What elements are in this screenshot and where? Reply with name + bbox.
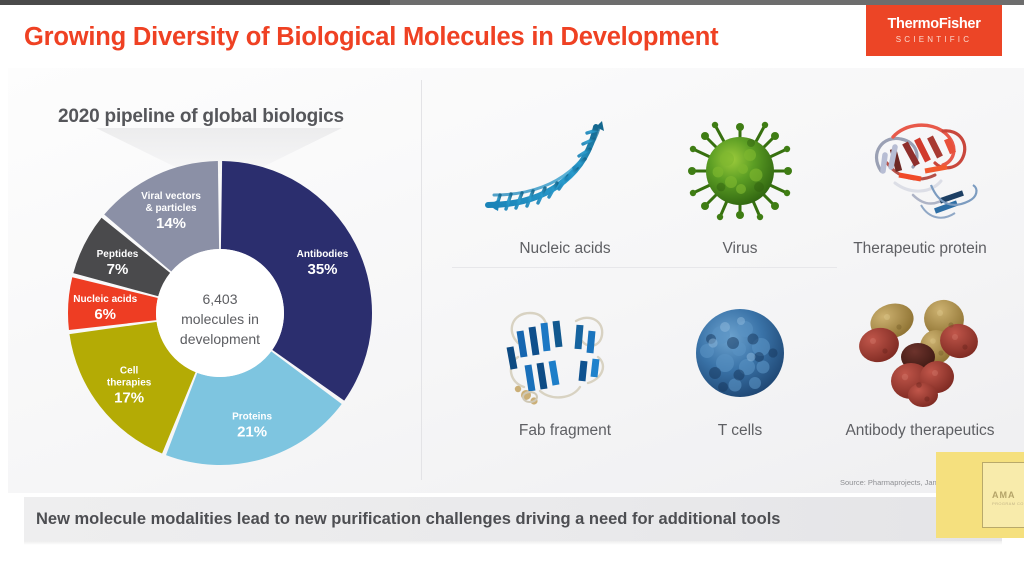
pie-slice-value: 7%: [107, 261, 129, 278]
slide-bottom-margin: [0, 545, 1024, 573]
pie-slice-value: 21%: [237, 423, 267, 440]
molecule-card-nucleic-acids: Nucleic acids: [470, 88, 660, 258]
key-message-banner: New molecule modalities lead to new puri…: [24, 497, 1002, 541]
pie-slice-value: 6%: [94, 306, 116, 323]
molecule-caption: Therapeutic protein: [853, 240, 987, 258]
pie-slice-label: Cell: [120, 366, 139, 377]
slide-left-margin: [0, 5, 7, 573]
chart-title: 2020 pipeline of global biologics: [58, 106, 344, 128]
donut-center-line-2: molecules in: [181, 311, 259, 327]
donut-center-line-1: 6,403: [202, 291, 237, 307]
pie-slice-label: Viral vectors: [141, 191, 201, 202]
panel-divider: [421, 80, 422, 480]
pie-slice-label: Proteins: [232, 411, 272, 422]
antibody-surface-icon: [835, 291, 1005, 416]
dna-helix-icon: [480, 109, 650, 234]
donut-center-line-3: development: [180, 331, 260, 347]
pie-slice-label: Peptides: [97, 249, 139, 260]
molecule-caption: Virus: [722, 240, 757, 258]
pie-slice-value: 14%: [156, 215, 186, 232]
pie-slice-label: therapies: [107, 378, 152, 389]
pie-slice-label: Nucleic acids: [73, 294, 137, 305]
molecule-card-fab-fragment: Fab fragment: [470, 270, 660, 440]
page-title: Growing Diversity of Biological Molecule…: [24, 23, 718, 52]
molecule-card-therapeutic-protein: Therapeutic protein: [795, 88, 1024, 258]
molecule-caption: Antibody therapeutics: [845, 422, 994, 440]
overlay-logo-label: AMA: [992, 490, 1016, 500]
molecule-caption: T cells: [718, 422, 763, 440]
protein-ribbon-icon: [835, 109, 1005, 234]
pie-slice-value: 17%: [114, 390, 144, 407]
pipeline-donut-chart: Antibodies35%Proteins21%Celltherapies17%…: [42, 148, 398, 478]
molecule-grid: Nucleic acids: [440, 88, 1010, 458]
molecule-caption: Fab fragment: [519, 422, 611, 440]
molecule-caption: Nucleic acids: [519, 240, 610, 258]
thermo-fisher-logo: ThermoFisher SCIENTIFIC: [866, 5, 1002, 56]
pie-slice-label: & particles: [145, 203, 197, 214]
molecule-card-antibody-therapeutics: Antibody therapeutics: [795, 270, 1024, 440]
pie-slice-label: Antibodies: [297, 249, 349, 260]
slide-canvas: Growing Diversity of Biological Molecule…: [0, 0, 1024, 573]
donut-svg: Antibodies35%Proteins21%Celltherapies17%…: [42, 148, 398, 478]
logo-tagline: SCIENTIFIC: [896, 36, 972, 44]
fab-fragment-icon: [480, 291, 650, 416]
key-message-text: New molecule modalities lead to new puri…: [36, 510, 780, 529]
pie-slice-value: 35%: [307, 261, 337, 278]
logo-wordmark: ThermoFisher: [887, 17, 980, 32]
overlay-logo-sublabel: PROGRAM COMMITTEE: [992, 501, 1024, 506]
